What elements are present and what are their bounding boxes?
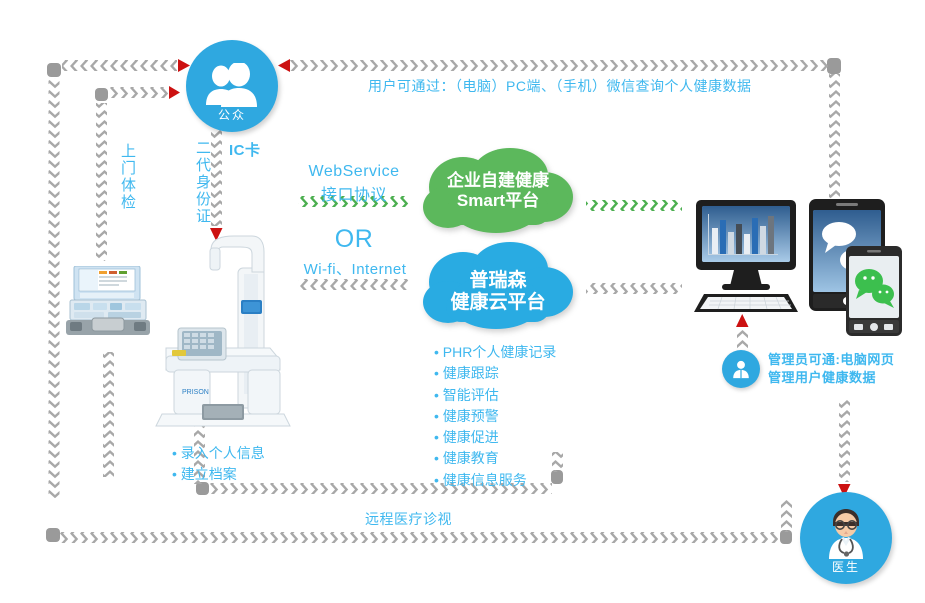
node-portable-kit[interactable]: [58, 266, 158, 338]
arrow-kiosk-to-blue-cloud: [298, 279, 410, 290]
blue-cloud-line-2: 健康云平台: [450, 292, 545, 314]
admin-line-2: 管理用户健康数据: [768, 369, 894, 387]
list-item: 智能评估: [434, 385, 556, 406]
people-icon: [203, 63, 261, 109]
node-doctor[interactable]: 医生: [800, 492, 892, 584]
list-item: 健康教育: [434, 448, 556, 469]
diagram-canvas: 公众 医生 管理员可通:电脑网页: [0, 0, 925, 603]
green-cloud-line-2: Smart平台: [447, 191, 549, 211]
desktop-monitor-icon: [690, 198, 802, 316]
label-id-card: 二代身份证: [192, 140, 213, 225]
portable-medical-kit-icon: [58, 266, 158, 338]
list-item: 健康促进: [434, 427, 556, 448]
protocol-wifi: Wi-fi、Internet: [295, 258, 415, 279]
kiosk-action-list: 录入个人信息 建立档案: [172, 443, 265, 486]
node-doctor-label: 医生: [800, 558, 892, 575]
arrow-green-cloud-to-devices: [586, 200, 682, 211]
node-smartphone[interactable]: [845, 245, 903, 337]
smartphone-wechat-icon: [845, 245, 903, 337]
list-item: 健康预警: [434, 406, 556, 427]
arrow-admin-to-doctor: [838, 400, 851, 497]
doctor-icon: [817, 505, 875, 563]
list-item: 健康跟踪: [434, 363, 556, 384]
admin-user-icon: [730, 358, 752, 380]
svg-text:PRISON: PRISON: [182, 389, 209, 396]
label-user-access-channels: 用户可通过：（电脑）PC端、（手机）微信查询个人健康数据: [368, 76, 751, 96]
cloud-purisen-health[interactable]: 普瑞森 健康云平台: [418, 238, 578, 338]
protocol-labels: WebService 接口协议: [300, 163, 408, 205]
protocol-interface: 接口协议: [300, 181, 408, 205]
node-admin[interactable]: 管理员可通:电脑网页 管理用户健康数据: [722, 350, 894, 388]
node-desktop-monitor[interactable]: [690, 198, 802, 316]
platform-feature-list: PHR个人健康记录 健康跟踪 智能评估 健康预警 健康促进 健康教育 健康信息服…: [434, 342, 556, 491]
list-item: 录入个人信息: [172, 443, 265, 464]
arrow-kit-down: [103, 352, 114, 477]
list-item: 建立档案: [172, 464, 265, 485]
node-public-label: 公众: [186, 106, 278, 123]
label-remote-consultation: 远程医疗诊视: [365, 509, 452, 529]
label-ic-card: IC卡: [229, 139, 261, 160]
list-item: 健康信息服务: [434, 470, 556, 491]
admin-line-1: 管理员可通:电脑网页: [768, 351, 894, 369]
health-kiosk-icon: PRISON: [148, 228, 298, 428]
label-home-checkup: 上门体检: [117, 143, 138, 211]
node-health-kiosk[interactable]: PRISON: [148, 228, 298, 428]
protocol-webservice: WebService: [300, 163, 408, 181]
arrow-blue-cloud-to-devices: [586, 283, 682, 294]
protocol-or: OR: [300, 225, 408, 254]
node-public[interactable]: 公众: [186, 40, 278, 132]
arrow-admin-up: [736, 314, 749, 350]
blue-cloud-line-1: 普瑞森: [450, 270, 545, 292]
cloud-enterprise-smart[interactable]: 企业自建健康 Smart平台: [418, 145, 578, 241]
green-cloud-line-1: 企业自建健康: [447, 171, 549, 191]
list-item: PHR个人健康记录: [434, 342, 556, 363]
